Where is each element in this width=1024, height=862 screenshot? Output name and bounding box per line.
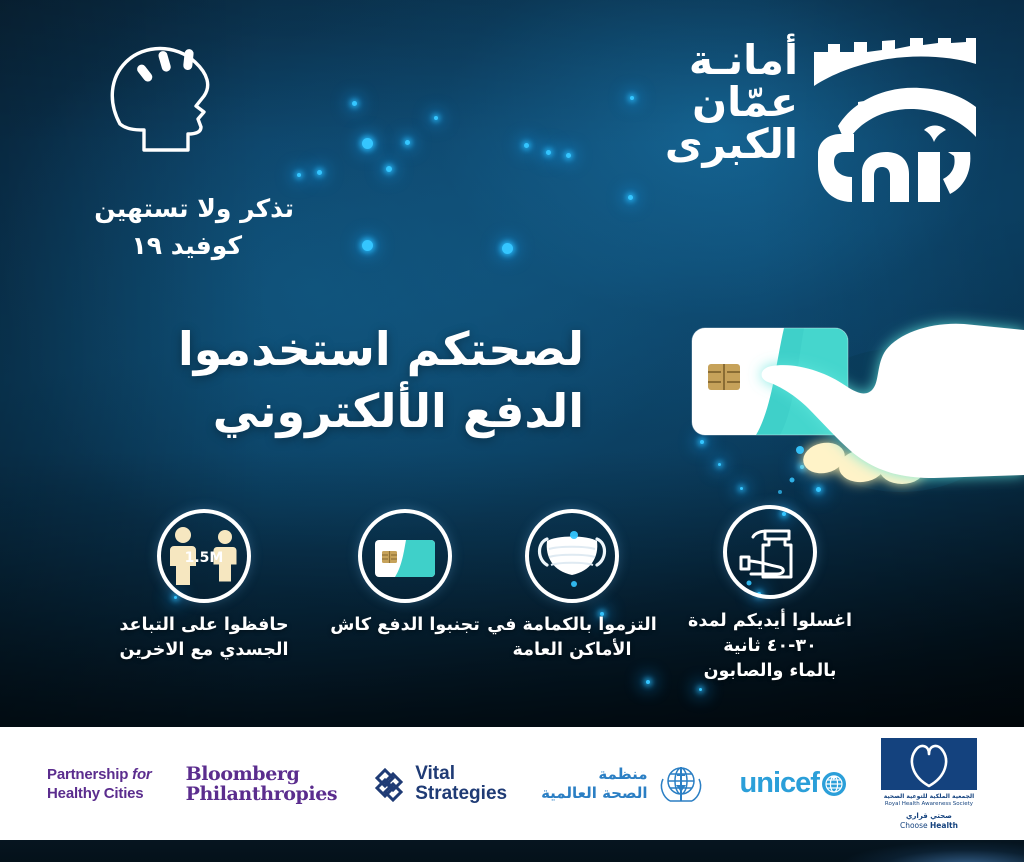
distance-label: 1.5M [185, 550, 224, 566]
awareness-block: تذكر ولا تستهين كوفيد ١٩ [46, 26, 296, 266]
bloomberg-line-2: Philanthropies [186, 784, 338, 804]
tip-wear-mask-label: التزموا بالكمامة في الأماكن العامة [462, 613, 682, 663]
hero-background: تذكر ولا تستهين كوفيد ١٩ أمانـة عمّان ال… [0, 0, 1024, 727]
municipality-line-1: أمانـة [665, 40, 798, 82]
municipality-line-2: عمّان [665, 82, 798, 124]
hand-wash-soap-icon [723, 505, 817, 599]
awareness-tagline: تذكر ولا تستهين كوفيد ١٩ [46, 192, 296, 266]
tip-wear-mask: التزموا بالكمامة في الأماكن العامة [462, 509, 682, 663]
rhas-english-name: Royal Health Awareness Society [881, 801, 977, 808]
rhas-campaign-arabic: صحتي قراري [881, 812, 977, 821]
logo-bloomberg-philanthropies: Bloomberg Philanthropies [186, 764, 338, 804]
logo-vital-strategies: Vital Strategies [371, 764, 507, 804]
logo-royal-health-awareness-society: الجمعية الملكية للتوعية الصحية Royal Hea… [881, 738, 977, 830]
logo-unicef: unicef [740, 767, 847, 800]
tip-hand-wash: اغسلوا أيديكم لمدة ٣٠-٤٠ ثانية بالماء وا… [660, 505, 880, 684]
face-mask-icon [525, 509, 619, 603]
bottom-strip [0, 840, 1024, 862]
phc-line-1a: Partnership [47, 766, 132, 783]
headline-line-1: لصحتكم استخدموا [178, 318, 584, 380]
vital-strategies-mark [371, 766, 407, 802]
municipality-wordmark: أمانـة عمّان الكبرى [665, 34, 798, 165]
municipality-line-3: الكبرى [665, 124, 798, 166]
social-distance-icon: 1.5M [157, 509, 251, 603]
tip-label-line-1: اغسلوا أيديكم لمدة [660, 609, 880, 634]
tip-label-line-1: التزموا بالكمامة في [462, 613, 682, 638]
amman-citadel-logo [810, 34, 980, 209]
unicef-globe-icon [821, 771, 847, 797]
logo-partnership-for-healthy-cities: Partnership for Healthy Cities [47, 765, 152, 803]
logo-world-health-organization: منظمة الصحة العالمية [541, 761, 705, 807]
phc-line-1b: for [132, 766, 151, 783]
rhas-campaign-en-light: Choose [900, 821, 930, 830]
who-emblem-icon [656, 761, 706, 807]
tip-label-line-2: الأماكن العامة [462, 638, 682, 663]
chip-icon [708, 364, 740, 390]
tip-hand-wash-label: اغسلوا أيديكم لمدة ٣٠-٤٠ ثانية بالماء وا… [660, 609, 880, 684]
bloomberg-line-1: Bloomberg [186, 764, 338, 784]
unicef-wordmark: unicef [740, 767, 819, 800]
partner-logos-footer: Partnership for Healthy Cities Bloomberg… [0, 727, 1024, 840]
who-line-2: الصحة العالمية [541, 784, 647, 803]
tip-social-distance-label: حافظوا على التباعد الجسدي مع الاخرين [94, 613, 314, 663]
phc-line-2: Healthy Cities [47, 784, 152, 803]
awareness-line-1: تذكر ولا تستهين [46, 192, 294, 226]
vital-line-1: Vital [415, 764, 507, 784]
headline-line-2: الدفع الألكتروني [178, 380, 584, 442]
poster-canvas: تذكر ولا تستهين كوفيد ١٩ أمانـة عمّان ال… [0, 0, 1024, 862]
municipality-logo: أمانـة عمّان الكبرى [665, 34, 980, 209]
rhas-campaign-en-bold: Health [930, 821, 958, 830]
vital-line-2: Strategies [415, 784, 507, 804]
tip-label-line-2: الجسدي مع الاخرين [94, 638, 314, 663]
page-title: لصحتكم استخدموا الدفع الألكتروني [178, 318, 584, 442]
bottom-strip-highlight [764, 840, 1024, 862]
who-line-1: منظمة [541, 765, 647, 784]
tip-social-distance: 1.5M حافظوا على التباعد الجسدي مع الاخري… [94, 509, 314, 663]
tip-label-line-3: بالماء والصابون [660, 659, 880, 684]
head-outline-icon [100, 26, 230, 186]
awareness-line-2: كوفيد ١٩ [46, 226, 294, 266]
tip-label-line-2: ٣٠-٤٠ ثانية [660, 634, 880, 659]
rhas-heart-mark [881, 738, 977, 790]
tips-row: 1.5M حافظوا على التباعد الجسدي مع الاخري… [0, 505, 1024, 715]
tip-label-line-1: حافظوا على التباعد [94, 613, 314, 638]
hand-holding-payment-card [676, 300, 1024, 520]
rhas-arabic-name: الجمعية الملكية للتوعية الصحية [881, 793, 977, 801]
payment-card-icon [358, 509, 452, 603]
